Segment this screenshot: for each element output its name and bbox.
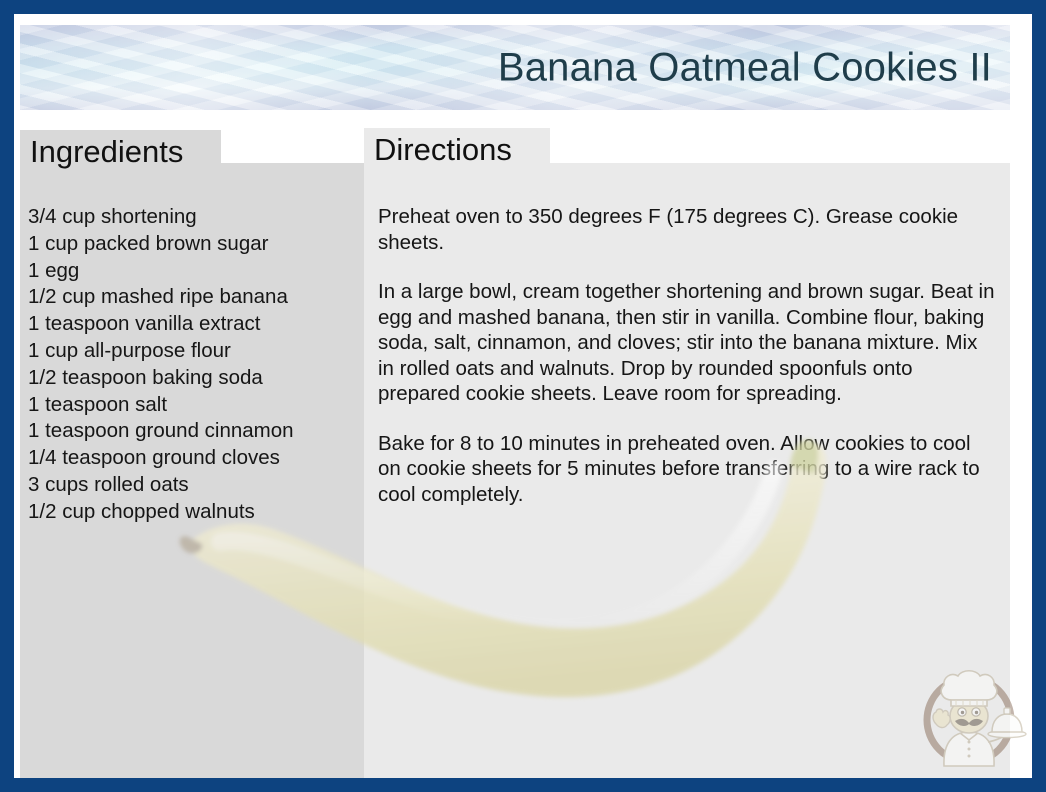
- ingredients-list: 3/4 cup shortening 1 cup packed brown su…: [28, 204, 358, 526]
- directions-panel: Preheat oven to 350 degrees F (175 degre…: [364, 163, 1010, 778]
- list-item: 1/2 teaspoon baking soda: [28, 365, 358, 392]
- list-item: 1 cup all-purpose flour: [28, 338, 358, 365]
- list-item: 1/2 cup mashed ripe banana: [28, 284, 358, 311]
- directions-heading: Directions: [364, 128, 550, 175]
- direction-paragraph: In a large bowl, cream together shorteni…: [378, 279, 995, 407]
- list-item: 1 teaspoon vanilla extract: [28, 311, 358, 338]
- list-item: 1 teaspoon salt: [28, 392, 358, 419]
- ingredients-panel: 3/4 cup shortening 1 cup packed brown su…: [20, 163, 364, 778]
- list-item: 1/2 cup chopped walnuts: [28, 499, 358, 526]
- directions-body: Preheat oven to 350 degrees F (175 degre…: [378, 204, 995, 507]
- list-item: 1 egg: [28, 258, 358, 285]
- list-item: 1/4 teaspoon ground cloves: [28, 445, 358, 472]
- title-banner: Banana Oatmeal Cookies II: [20, 25, 1010, 110]
- direction-paragraph: Bake for 8 to 10 minutes in preheated ov…: [378, 431, 995, 508]
- recipe-slide: Banana Oatmeal Cookies II 3/4 cup shorte…: [0, 0, 1046, 792]
- page-title: Banana Oatmeal Cookies II: [498, 45, 992, 90]
- list-item: 3/4 cup shortening: [28, 204, 358, 231]
- list-item: 3 cups rolled oats: [28, 472, 358, 499]
- ingredients-heading: Ingredients: [20, 130, 221, 177]
- list-item: 1 cup packed brown sugar: [28, 231, 358, 258]
- list-item: 1 teaspoon ground cinnamon: [28, 418, 358, 445]
- slide-content-area: Banana Oatmeal Cookies II 3/4 cup shorte…: [14, 14, 1032, 778]
- direction-paragraph: Preheat oven to 350 degrees F (175 degre…: [378, 204, 995, 255]
